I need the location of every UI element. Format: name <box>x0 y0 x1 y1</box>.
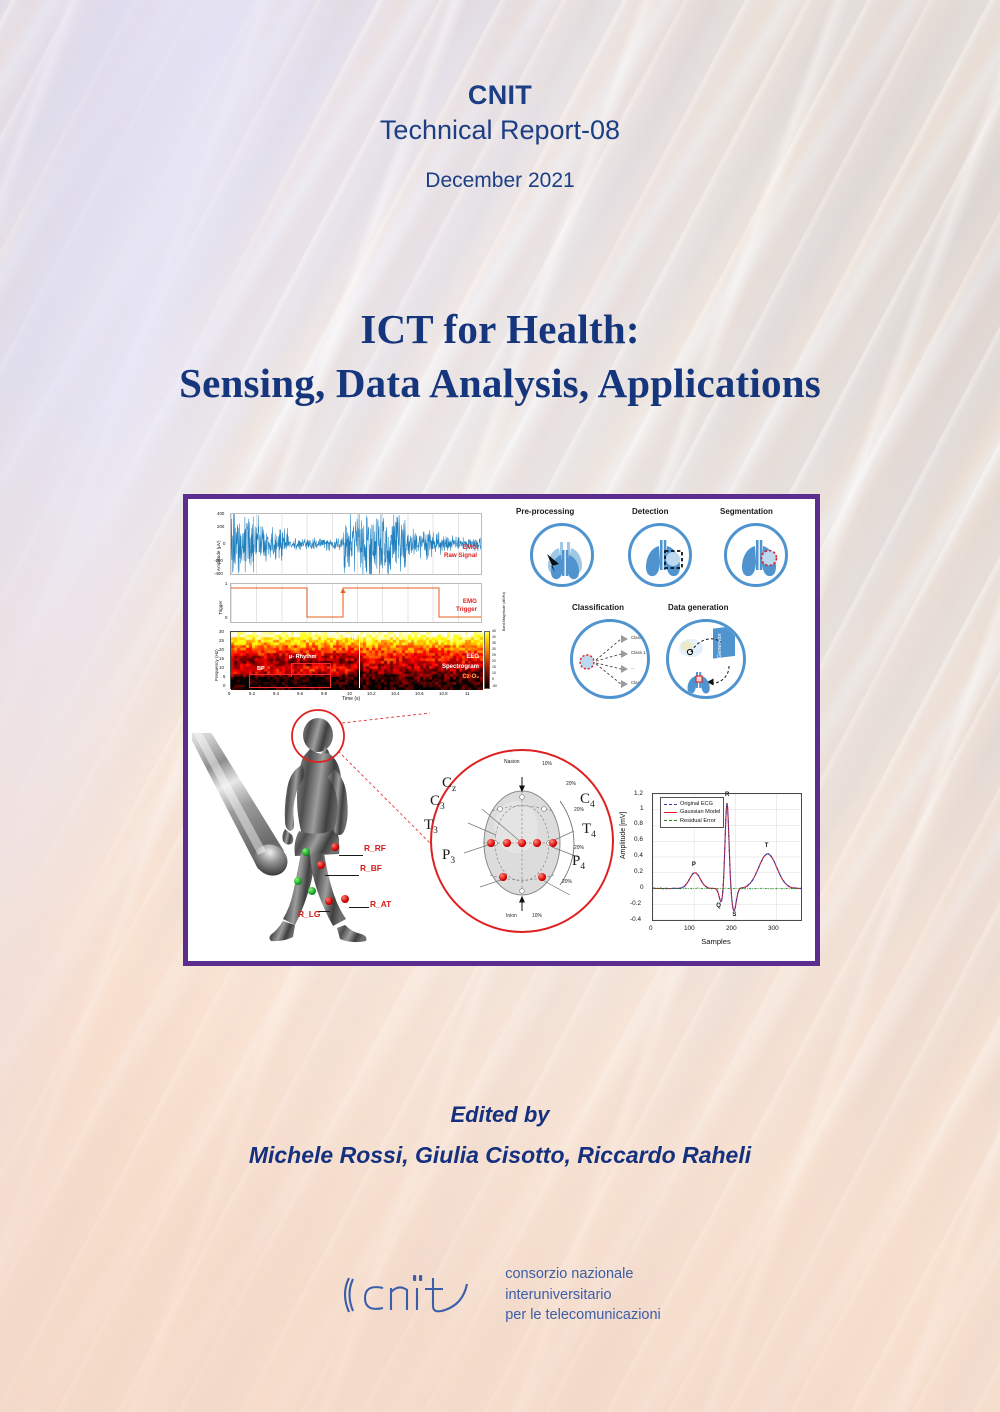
spec-xtick-9: 9 <box>228 691 230 696</box>
eeg-caption-line3: Cz-O₂ <box>462 674 479 681</box>
legend-label-original: Original ECG <box>680 800 713 808</box>
ecg-peak-label-s: S <box>732 912 736 918</box>
trigger-ytick-1: 1 <box>225 581 227 586</box>
class-label-ellipsis: ... <box>631 665 635 670</box>
eeg-electrode-c3 <box>503 839 511 847</box>
spec-ytick-30: 30 <box>219 629 224 634</box>
ecg-ytick-0p4: 0.4 <box>634 852 643 859</box>
report-number: Technical Report-08 <box>0 113 1000 148</box>
eeg-label-cz: Cz <box>442 775 456 794</box>
cnit-logo: consorzio nazionale interuniversitario p… <box>0 1258 1000 1332</box>
legend-item-original: Original ECG <box>664 800 720 808</box>
eeg-landmark-inion: Inion <box>506 913 517 919</box>
page-title: ICT for Health: Sensing, Data Analysis, … <box>0 302 1000 410</box>
electrode-dot-at <box>325 897 333 905</box>
svg-text:Generator: Generator <box>717 633 723 658</box>
ecg-ytick-0p6: 0.6 <box>634 836 643 843</box>
cnit-logo-diaeresis <box>413 1275 422 1281</box>
emg-label-line1: EMG <box>444 544 477 552</box>
legend-swatch-original <box>664 804 677 805</box>
ecg-peak-label-q: Q <box>716 903 721 909</box>
legend-swatch-gaussian <box>664 812 677 813</box>
pipeline-step-detection-label: Detection <box>632 507 668 516</box>
spec-ytick-25: 25 <box>219 638 224 643</box>
eeg-percent-r1: 20% <box>566 781 576 787</box>
spec-xtick-102: 10.2 <box>367 691 376 696</box>
eeg-landmark-nasion: Nasion <box>504 759 520 765</box>
emg-ytick-200: 200 <box>217 524 224 529</box>
class-label-1: Class 1 <box>631 650 646 655</box>
spectrogram-colorbar <box>484 631 490 689</box>
cb-tick-15: 15 <box>492 665 496 669</box>
tagline-line-1: consorzio nazionale <box>505 1264 661 1285</box>
trigger-label-line1: EMG <box>456 598 477 606</box>
eeg-electrode-t3 <box>487 839 495 847</box>
spec-xtick-108: 10.8 <box>439 691 448 696</box>
cb-tick-45: 45 <box>492 629 496 633</box>
eeg-percent-bottom: 10% <box>532 913 542 919</box>
spec-ytick-15: 15 <box>219 656 224 661</box>
emg-electrode-label-at: R_AT <box>370 899 391 909</box>
trigger-signal-annotation: EMG Trigger <box>456 598 477 614</box>
spec-xtick-11: 11 <box>465 691 470 696</box>
cnit-logo-tagline: consorzio nazionale interuniversitario p… <box>505 1264 661 1326</box>
ecg-ytick-m0p4: -0.4 <box>630 916 641 923</box>
ecg-legend: Original ECG Gaussian Model Residual Err… <box>660 797 724 828</box>
edited-by-label: Edited by <box>0 1102 1000 1128</box>
detection-circle <box>628 523 692 587</box>
ecg-ytick-1: 1 <box>640 805 644 812</box>
ecg-peak-label-p: P <box>692 862 696 868</box>
legend-label-residual: Residual Error <box>680 817 716 825</box>
preprocessing-circle <box>530 523 594 587</box>
eeg-label-t4: T4 <box>582 821 596 840</box>
spec-xtick-94: 9.4 <box>273 691 279 696</box>
emg-electrode-label-lg: R_LG <box>298 909 320 919</box>
editor-names: Michele Rossi, Giulia Cisotto, Riccardo … <box>0 1142 1000 1169</box>
spec-ytick-20: 20 <box>219 647 224 652</box>
ecg-peak-label-r: R <box>725 792 729 798</box>
emg-ytick-400: 400 <box>217 511 224 516</box>
editors-block: Edited by Michele Rossi, Giulia Cisotto,… <box>0 1102 1000 1169</box>
emg-electrode-label-bf: R_BF <box>360 863 382 873</box>
start-step-marker-line <box>359 632 360 688</box>
emg-label-line2: Raw Signal <box>444 552 477 560</box>
lead-line-bf <box>325 875 359 876</box>
emg-ytick-m400: -400 <box>214 571 223 576</box>
eeg-1020-head-figure: Cz C3 T3 P3 C4 T4 P4 Nasion Inion 10% 20… <box>422 735 622 951</box>
eeg-label-c3: C3 <box>430 793 445 812</box>
lungs-icon-preprocessing <box>533 526 594 587</box>
colorbar-title: Band Magnitude (dB/Hz) <box>502 592 506 631</box>
electrode-dot-lg <box>341 895 349 903</box>
cb-tick-40: 40 <box>492 635 496 639</box>
eeg-spectrogram-axes: Start Step µ- Rhythm BP EEG Spectrogram … <box>230 631 482 689</box>
eeg-percent-top: 10% <box>542 761 552 767</box>
trigger-y-axis-label: Trigger <box>218 601 223 615</box>
ecg-ytick-0: 0 <box>640 884 644 891</box>
trigger-ytick-0: 0 <box>225 615 227 620</box>
spec-ytick-10: 10 <box>219 665 224 670</box>
lungs-icon-detection <box>631 526 692 587</box>
lungs-icon-segmentation <box>727 526 788 587</box>
spec-ytick-0: 0 <box>223 683 225 688</box>
legend-item-gaussian: Gaussian Model <box>664 808 720 816</box>
ecg-ytick-0p8: 0.8 <box>634 820 643 827</box>
publication-date: December 2021 <box>0 169 1000 193</box>
classification-circle: Class 0 Class 1 ... Class N <box>570 619 650 699</box>
legend-swatch-residual <box>664 820 677 821</box>
classification-diagram-icon <box>573 622 650 699</box>
trigger-gridlines <box>231 584 481 622</box>
data-generation-circle: Generator <box>666 619 746 699</box>
lung-pipeline-figure: Pre-processing Detection Segmentation <box>508 507 811 703</box>
emg-ytick-0: 0 <box>223 541 225 546</box>
ecg-peak-label-t: T <box>765 843 769 849</box>
lead-line-rf <box>339 855 363 856</box>
start-step-label: Start Step <box>327 634 355 640</box>
class-label-0: Class 0 <box>631 635 646 640</box>
electrode-dot-green-3 <box>308 887 316 895</box>
data-generation-diagram-icon: Generator <box>669 622 746 699</box>
ecg-ytick-0p2: 0.2 <box>634 868 643 875</box>
title-line-1: ICT for Health: <box>0 302 1000 356</box>
eeg-electrode-p4 <box>538 873 546 881</box>
lead-line-at <box>349 907 369 908</box>
eeg-label-t3: T3 <box>424 817 438 836</box>
eeg-electrode-t4 <box>549 839 557 847</box>
ecg-ytick-m0p2: -0.2 <box>630 900 641 907</box>
eeg-percent-r3: 20% <box>574 845 584 851</box>
emg-electrode-label-rf: R_RF <box>364 843 386 853</box>
cb-tick-10: 10 <box>492 671 496 675</box>
tagline-line-3: per le telecomunicazioni <box>505 1305 661 1326</box>
ecg-gaussian-model-chart: Amplitude [mV] 1.2 1 0.8 0.6 0.4 0.2 0 -… <box>616 785 811 957</box>
class-label-n: Class N <box>631 680 646 685</box>
spec-xtick-96: 9.6 <box>297 691 303 696</box>
cover-figure-panel: Amplitude (µV) 400 200 0 -200 -400 EMG R… <box>183 494 820 966</box>
cb-tick-m50: -50 <box>492 684 497 688</box>
trigger-label-line2: Trigger <box>456 606 477 614</box>
spec-xtick-106: 10.6 <box>415 691 424 696</box>
legend-label-gaussian: Gaussian Model <box>680 808 720 816</box>
cb-tick-35: 35 <box>492 641 496 645</box>
cb-tick-30: 30 <box>492 647 496 651</box>
spec-xtick-98: 9.8 <box>321 691 327 696</box>
eeg-label-p4: P4 <box>572 853 585 872</box>
ecg-xtick-0: 0 <box>649 925 653 932</box>
electrode-dot-bf <box>317 861 325 869</box>
eeg-electrode-cz <box>518 839 526 847</box>
electrode-dot-rf <box>331 843 339 851</box>
bp-label: BP <box>257 666 265 672</box>
electrode-dot-green-1 <box>302 848 310 856</box>
pipeline-step-classification-label: Classification <box>572 603 624 612</box>
pipeline-step-segmentation-label: Segmentation <box>720 507 773 516</box>
cb-tick-5: 5 <box>492 677 494 681</box>
eeg-percent-r4: 20% <box>562 879 572 885</box>
emg-raw-axes: EMG Raw Signal <box>230 513 482 575</box>
body-electrode-figure: R_RF R_BF R_LG R_AT <box>198 703 434 957</box>
spec-xtick-92: 9.2 <box>249 691 255 696</box>
ecg-y-axis-label: Amplitude [mV] <box>620 812 627 859</box>
emg-y-axis-label: Amplitude (µV) <box>216 541 221 571</box>
title-line-2: Sensing, Data Analysis, Applications <box>0 356 1000 410</box>
eeg-electrode-p3 <box>499 873 507 881</box>
ecg-xtick-300: 300 <box>768 925 779 932</box>
cnit-logo-mark <box>339 1258 489 1332</box>
bp-box <box>249 674 331 688</box>
cb-tick-25: 25 <box>492 653 496 657</box>
pipeline-step-datagen-label: Data generation <box>668 603 728 612</box>
emg-trigger-axes: EMG Trigger <box>230 583 482 623</box>
ecg-xtick-200: 200 <box>726 925 737 932</box>
cb-tick-20: 20 <box>492 659 496 663</box>
eeg-caption-line2: Spectrogram <box>442 664 479 671</box>
emg-ytick-m200: -200 <box>214 558 223 563</box>
tagline-line-2: interuniversitario <box>505 1285 661 1306</box>
ecg-xtick-100: 100 <box>684 925 695 932</box>
spec-ytick-5: 5 <box>223 674 225 679</box>
ecg-ytick-1p2: 1.2 <box>634 790 643 797</box>
emg-eeg-stack-figure: Amplitude (µV) 400 200 0 -200 -400 EMG R… <box>202 509 492 699</box>
zoom-leader-lines <box>338 713 430 843</box>
cover-header: CNIT Technical Report-08 December 2021 <box>0 78 1000 193</box>
eeg-label-p3: P3 <box>442 847 455 866</box>
pipeline-step-preprocessing-label: Pre-processing <box>516 507 574 516</box>
emg-signal-annotation: EMG Raw Signal <box>444 544 477 560</box>
electrode-dot-green-2 <box>294 877 302 885</box>
organization-name: CNIT <box>0 78 1000 113</box>
ecg-x-axis-label: Samples <box>616 937 811 946</box>
eeg-caption-line1: EEG <box>466 654 479 661</box>
mu-rhythm-label: µ- Rhythm <box>289 654 316 660</box>
segmentation-circle <box>724 523 788 587</box>
spec-xtick-104: 10.4 <box>391 691 400 696</box>
legend-item-residual: Residual Error <box>664 817 720 825</box>
eeg-percent-r2: 20% <box>574 807 584 813</box>
eeg-electrode-c4 <box>533 839 541 847</box>
spectrogram-x-axis-label: Time (s) <box>342 696 360 702</box>
